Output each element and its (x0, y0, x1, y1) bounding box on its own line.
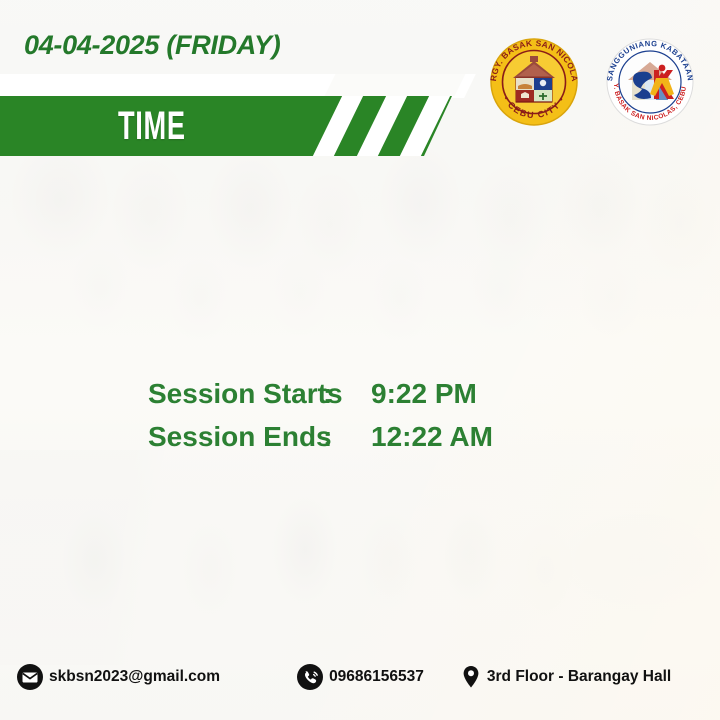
logo-group: BRGY. BASAK SAN NICOLAS • CEBU CITY • (480, 28, 704, 136)
phone-icon (296, 663, 324, 691)
session-start-value: 9:22 PM (335, 372, 477, 415)
banner-title: TIME (118, 101, 186, 151)
sangguniang-kabataan-seal: • SANGGUNIANG KABATAAN • BRGY. BASAK SAN… (596, 28, 704, 136)
time-banner: TIME (0, 96, 452, 156)
session-start-colon: : (323, 372, 335, 415)
sk-seal-icon: • SANGGUNIANG KABATAAN • BRGY. BASAK SAN… (596, 28, 704, 136)
event-time-poster: 04-04-2025 (FRIDAY) TIME (0, 0, 720, 720)
brgy-basak-san-nicolas-seal: BRGY. BASAK SAN NICOLAS • CEBU CITY • (480, 28, 588, 136)
session-end-value: 12:22 AM (335, 415, 493, 458)
session-start-label: Session Starts (148, 372, 323, 415)
contact-phone[interactable]: 09686156537 (296, 663, 424, 691)
brgy-seal-icon: BRGY. BASAK SAN NICOLAS • CEBU CITY • (480, 28, 588, 136)
session-end-label: Session Ends (148, 415, 323, 458)
footer-contact-bar: skbsn2023@gmail.com 09686156537 3rd Floo… (0, 655, 720, 699)
session-times: Session Starts : 9:22 PM Session Ends : … (148, 372, 493, 458)
contact-email-text: skbsn2023@gmail.com (49, 668, 220, 686)
event-date: 04-04-2025 (FRIDAY) (24, 30, 280, 61)
session-start-row: Session Starts : 9:22 PM (148, 372, 493, 415)
contact-email[interactable]: skbsn2023@gmail.com (16, 663, 220, 691)
contact-location-text: 3rd Floor - Barangay Hall (487, 668, 671, 686)
envelope-icon (16, 663, 44, 691)
banner-slash-icon (310, 96, 365, 156)
session-end-colon: : (323, 415, 335, 458)
banner-slash-icon (354, 96, 409, 156)
header-white-slant-secondary (325, 74, 466, 96)
map-pin-icon (460, 663, 482, 691)
session-end-row: Session Ends : 12:22 AM (148, 415, 493, 458)
contact-location[interactable]: 3rd Floor - Barangay Hall (460, 663, 671, 691)
contact-phone-text: 09686156537 (329, 668, 424, 686)
